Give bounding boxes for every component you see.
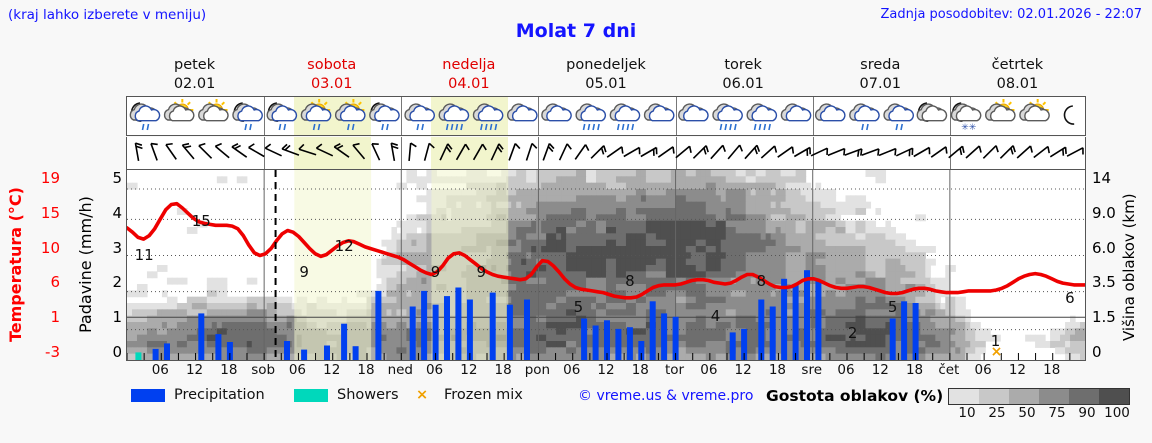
- cloud-height-tick: 0: [1092, 343, 1102, 361]
- cloud-density-legend-title: Gostota oblakov (%): [766, 387, 943, 405]
- time-tick-label: 18: [1043, 362, 1060, 378]
- day-header-torek: torek06.01: [675, 56, 812, 94]
- precipitation-tick: 0: [112, 343, 122, 361]
- copyright-label[interactable]: © vreme.us & vreme.pro: [578, 388, 753, 404]
- cloud-height-tick: 1.5: [1092, 308, 1116, 326]
- density-scale-label: 25: [988, 405, 1005, 421]
- day-date: 03.01: [263, 75, 400, 94]
- temperature-tick: 6: [50, 273, 60, 291]
- day-date: 08.01: [949, 75, 1086, 94]
- day-date: 05.01: [537, 75, 674, 94]
- cloud-height-tick: 3.5: [1092, 273, 1116, 291]
- day-header-četrtek: četrtek08.01: [949, 56, 1086, 94]
- precipitation-tick: 1: [112, 308, 122, 326]
- frozen-mix-legend-label: Frozen mix: [444, 387, 523, 403]
- temperature-value-label: 4: [711, 307, 721, 325]
- temperature-value-label: 11: [135, 246, 154, 264]
- time-tick-label: tor: [665, 362, 684, 378]
- day-name: četrtek: [949, 56, 1086, 75]
- temperature-tick-labels: 19151061-3: [24, 169, 60, 361]
- time-tick-label: 06: [563, 362, 580, 378]
- showers-legend-label: Showers: [337, 387, 399, 403]
- time-tick-label: 12: [872, 362, 889, 378]
- cloud-height-tick: 14: [1092, 169, 1111, 187]
- chart-legend: Precipitation Showers × Frozen mix © vre…: [126, 387, 1146, 433]
- day-name: sreda: [812, 56, 949, 75]
- temperature-value-label: 2: [848, 324, 858, 342]
- density-scale-cell: [1099, 389, 1129, 404]
- day-header-ponedeljek: ponedeljek05.01: [537, 56, 674, 94]
- day-date: 07.01: [812, 75, 949, 94]
- cloud-height-tick-labels: 149.06.03.51.50: [1092, 169, 1128, 361]
- time-tick-label: 18: [220, 362, 237, 378]
- meteogram-chart: 11159129958482516×: [126, 169, 1086, 361]
- time-tick-label: 06: [289, 362, 306, 378]
- temperature-tick: 10: [41, 239, 60, 257]
- density-scale-label: 100: [1104, 405, 1130, 421]
- temperature-value-label: 12: [335, 237, 354, 255]
- time-tick-label: 18: [357, 362, 374, 378]
- day-date: 06.01: [675, 75, 812, 94]
- weather-icon-strip: ✳✳: [126, 96, 1086, 136]
- temperature-value-label: 5: [888, 298, 898, 316]
- cloud-height-tick: 9.0: [1092, 204, 1116, 222]
- time-tick-label: ned: [388, 362, 413, 378]
- temperature-tick: 15: [41, 204, 60, 222]
- temperature-value-label: 8: [757, 272, 767, 290]
- time-tick-label: 06: [426, 362, 443, 378]
- precipitation-tick: 5: [112, 169, 122, 187]
- day-date: 02.01: [126, 75, 263, 94]
- time-tick-label: 12: [186, 362, 203, 378]
- page-title: Molat 7 dni: [0, 20, 1152, 42]
- time-tick-label: 06: [837, 362, 854, 378]
- frozen-mix-marker: ×: [991, 344, 1003, 360]
- time-tick-label: 06: [975, 362, 992, 378]
- precipitation-tick: 3: [112, 239, 122, 257]
- day-header-nedelja: nedelja04.01: [400, 56, 537, 94]
- precipitation-legend-swatch: [131, 389, 165, 402]
- temperature-tick: 1: [50, 308, 60, 326]
- day-name: petek: [126, 56, 263, 75]
- density-scale-label: 10: [958, 405, 975, 421]
- temperature-value-label: 5: [574, 298, 584, 316]
- time-tick-label: 18: [769, 362, 786, 378]
- time-tick-label: sob: [251, 362, 275, 378]
- density-scale-cell: [1009, 389, 1039, 404]
- day-header-petek: petek02.01: [126, 56, 263, 94]
- time-tick-label: 18: [906, 362, 923, 378]
- day-header-sobota: sobota03.01: [263, 56, 400, 94]
- svg-text:✳✳: ✳✳: [961, 123, 977, 133]
- cloud-density-scale-bar: [948, 388, 1130, 405]
- temperature-value-label: 9: [431, 263, 441, 281]
- density-scale-label: 90: [1078, 405, 1095, 421]
- last-update-label: Zadnja posodobitev: 02.01.2026 - 22:07: [880, 7, 1142, 22]
- time-axis-labels: 061218sob061218ned061218pon061218tor0612…: [126, 362, 1086, 380]
- day-header-row: petek02.01sobota03.01nedelja04.01ponedel…: [126, 56, 1086, 96]
- density-scale-cell: [1069, 389, 1099, 404]
- density-scale-cell: [979, 389, 1009, 404]
- cloud-density-scale-labels: 1025507590100: [944, 405, 1134, 423]
- time-tick-label: 06: [700, 362, 717, 378]
- time-tick-label: 18: [632, 362, 649, 378]
- time-tick-label: 12: [323, 362, 340, 378]
- temperature-value-label: 15: [192, 212, 211, 230]
- day-header-sreda: sreda07.01: [812, 56, 949, 94]
- day-name: sobota: [263, 56, 400, 75]
- temperature-value-label: 6: [1065, 289, 1075, 307]
- time-tick-label: 18: [495, 362, 512, 378]
- temperature-value-label: 8: [625, 272, 635, 290]
- time-tick-label: 12: [1009, 362, 1026, 378]
- density-scale-cell: [1039, 389, 1069, 404]
- time-tick-label: 12: [735, 362, 752, 378]
- time-tick-label: 12: [597, 362, 614, 378]
- precipitation-tick: 2: [112, 273, 122, 291]
- temperature-tick: 19: [41, 169, 60, 187]
- density-scale-label: 50: [1018, 405, 1035, 421]
- time-tick-label: čet: [938, 362, 959, 378]
- cloud-height-tick: 6.0: [1092, 239, 1116, 257]
- day-name: torek: [675, 56, 812, 75]
- temperature-value-label: 9: [477, 263, 487, 281]
- time-tick-label: pon: [525, 362, 550, 378]
- frozen-mix-legend-marker: ×: [416, 387, 428, 403]
- time-tick-label: 06: [152, 362, 169, 378]
- day-name: nedelja: [400, 56, 537, 75]
- density-scale-cell: [949, 389, 979, 404]
- density-scale-label: 75: [1048, 405, 1065, 421]
- time-tick-label: 12: [460, 362, 477, 378]
- day-date: 04.01: [400, 75, 537, 94]
- precipitation-tick: 4: [112, 204, 122, 222]
- precipitation-legend-label: Precipitation: [174, 387, 265, 403]
- precipitation-tick-labels: 543210: [96, 169, 122, 361]
- temperature-value-label: 9: [299, 263, 309, 281]
- day-name: ponedeljek: [537, 56, 674, 75]
- showers-legend-swatch: [294, 389, 328, 402]
- wind-barb-strip: [126, 137, 1086, 169]
- temperature-tick: -3: [45, 343, 60, 361]
- time-tick-label: sre: [801, 362, 822, 378]
